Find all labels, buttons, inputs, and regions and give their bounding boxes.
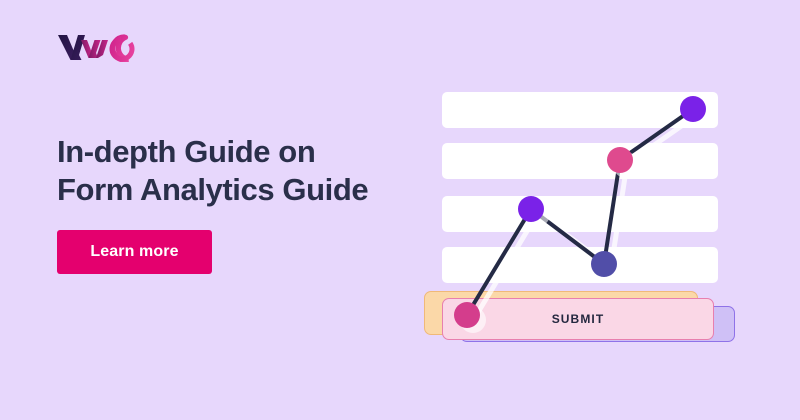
chart-line-shadow: [474, 113, 700, 319]
vwo-logo: [56, 30, 148, 62]
point-5[interactable]: [680, 96, 706, 122]
point-3[interactable]: [591, 251, 617, 277]
point-2[interactable]: [518, 196, 544, 222]
learn-more-button[interactable]: Learn more: [57, 230, 212, 274]
form-analytics-illustration: SUBMIT: [410, 70, 760, 360]
headline-line-1: In-depth Guide on: [57, 133, 417, 171]
point-1[interactable]: [454, 302, 480, 328]
analytics-line-chart: [410, 70, 760, 360]
point-4[interactable]: [607, 147, 633, 173]
headline-line-2: Form Analytics Guide: [57, 171, 417, 209]
vwo-promo-banner: In-depth Guide on Form Analytics Guide L…: [0, 0, 800, 420]
page-title: In-depth Guide on Form Analytics Guide: [57, 133, 417, 209]
